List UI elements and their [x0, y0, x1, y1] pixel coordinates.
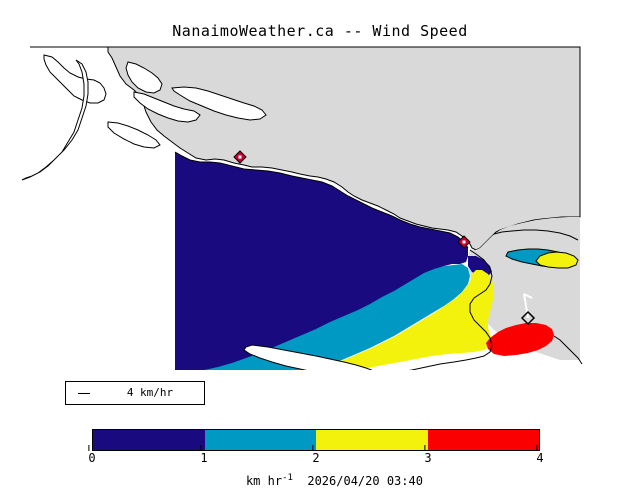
colorbar[interactable]: [92, 429, 540, 451]
inland-inlet-small: [108, 122, 160, 148]
station-center-dot: [463, 241, 466, 244]
colorbar-caption: km hr-1 2026/04/20 03:40: [0, 459, 640, 502]
colorbar-segment-2-3[interactable]: [316, 430, 428, 450]
vector-legend-box: 4 km/hr: [65, 381, 205, 405]
colorbar-unit-label: km hr: [246, 474, 282, 488]
map-canvas[interactable]: [0, 40, 640, 370]
colorbar-segment-1-2[interactable]: [205, 430, 317, 450]
colorbar-track[interactable]: [92, 429, 540, 451]
vector-legend-label: 4 km/hr: [66, 386, 206, 399]
colorbar-segment-0-1[interactable]: [93, 430, 205, 450]
station-center-dot: [239, 156, 242, 159]
colorbar-unit-exponent: -1: [282, 473, 293, 483]
inland-lake-nw: [44, 55, 106, 103]
colorbar-timestamp: 2026/04/20 03:40: [307, 474, 423, 488]
weather-map-page: NanaimoWeather.ca -- Wind Speed: [0, 0, 640, 480]
colorbar-segment-3-4[interactable]: [428, 430, 540, 450]
page-title: NanaimoWeather.ca -- Wind Speed: [0, 22, 640, 40]
map-svg[interactable]: [0, 40, 640, 370]
